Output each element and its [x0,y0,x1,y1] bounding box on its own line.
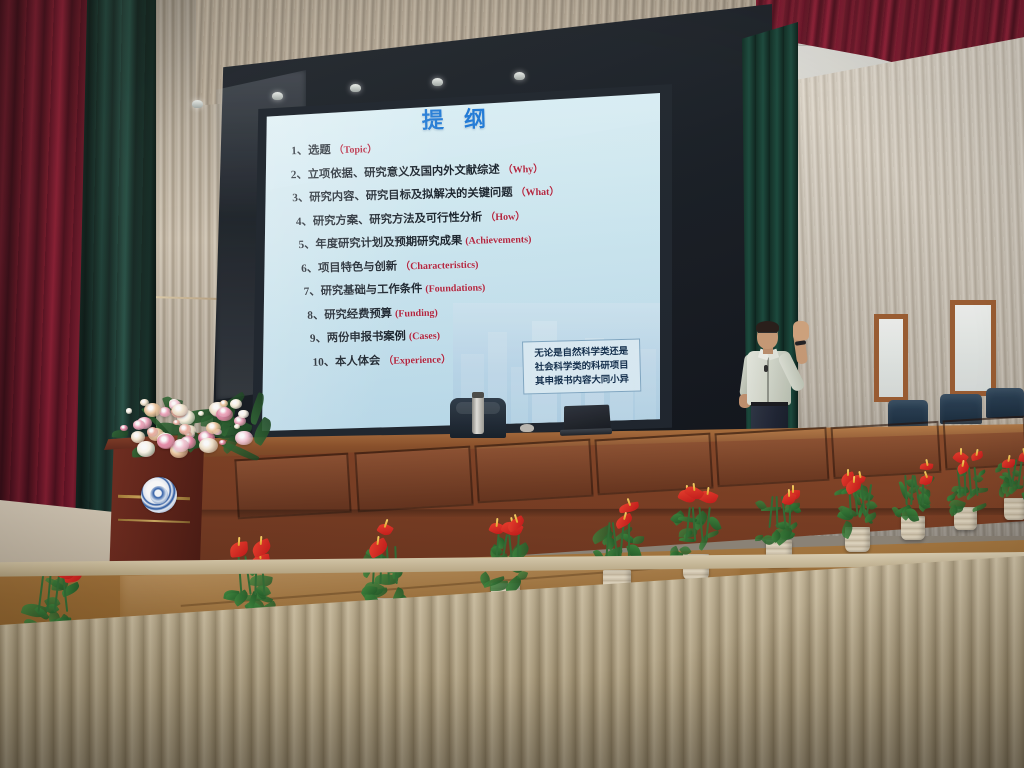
plant-stem [628,522,630,557]
plant-stem [768,496,773,528]
plant-spadix [925,458,929,465]
plant-leaf [971,502,987,511]
potted-plant [832,460,883,552]
potted-plant [942,445,989,530]
potted-plant [992,437,1024,520]
lecture-hall-photo: 提 纲 1、选题（Topic）2、立项依据、研究意义及国内外文献综述（Why）3… [0,0,1024,768]
potted-plant [752,471,805,566]
potted-plant [888,452,937,540]
plant-pot [1004,498,1024,520]
plant-leaf [697,535,710,551]
plant-leaf [707,514,722,532]
